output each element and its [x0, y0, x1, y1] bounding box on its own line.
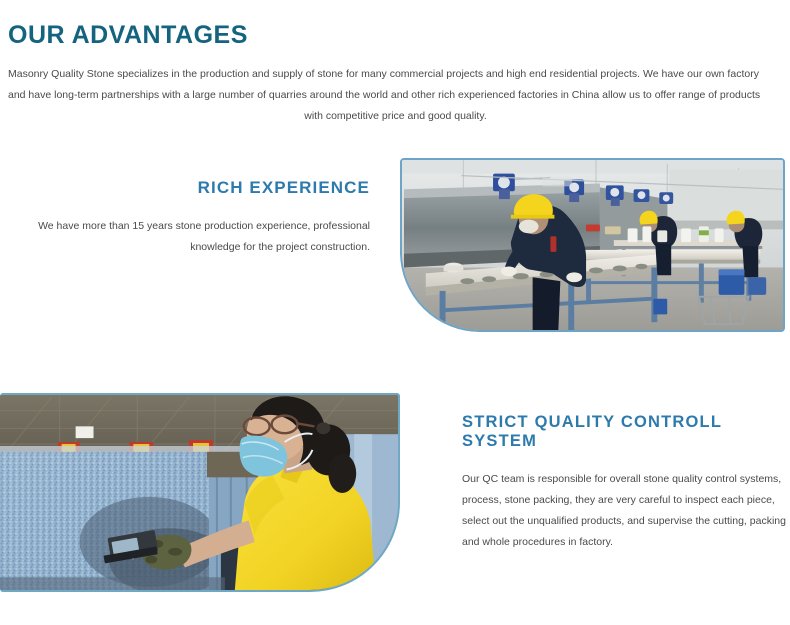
- our-advantages-page: OUR ADVANTAGES Masonry Quality Stone spe…: [0, 0, 790, 625]
- strict-quality-control-heading: STRICT QUALITY CONTROLL SYSTEM: [462, 413, 782, 451]
- rich-experience-heading: RICH EXPERIENCE: [20, 178, 370, 198]
- qc-body-line-1: Our QC team is responsible for overall s…: [462, 469, 782, 490]
- qc-body-line-4: and whole procedures in factory.: [462, 532, 782, 553]
- strict-quality-control-body: Our QC team is responsible for overall s…: [462, 469, 782, 553]
- qc-body-line-2: process, stone packing, they are very ca…: [462, 490, 782, 511]
- rich-experience-body: We have more than 15 years stone product…: [20, 216, 370, 258]
- intro-line-3: with competitive price and good quality.: [8, 106, 783, 127]
- rich-experience-body-line-1: We have more than 15 years stone product…: [20, 216, 370, 237]
- intro-paragraph: Masonry Quality Stone specializes in the…: [8, 64, 783, 127]
- rich-experience-body-line-2: knowledge for the project construction.: [20, 237, 370, 258]
- intro-line-1: Masonry Quality Stone specializes in the…: [8, 64, 783, 85]
- factory-workshop-photo: [400, 158, 785, 332]
- rich-experience-block: RICH EXPERIENCE We have more than 15 yea…: [20, 178, 370, 258]
- qc-inspection-photo: [0, 393, 400, 592]
- intro-line-2: and have long-term partnerships with a l…: [8, 85, 783, 106]
- page-title: OUR ADVANTAGES: [8, 22, 248, 50]
- qc-body-line-3: select out the unqualified products, and…: [462, 511, 782, 532]
- qc-inspection-illustration: [0, 395, 398, 590]
- strict-quality-control-block: STRICT QUALITY CONTROLL SYSTEM Our QC te…: [462, 413, 782, 553]
- factory-workshop-illustration: [402, 160, 783, 330]
